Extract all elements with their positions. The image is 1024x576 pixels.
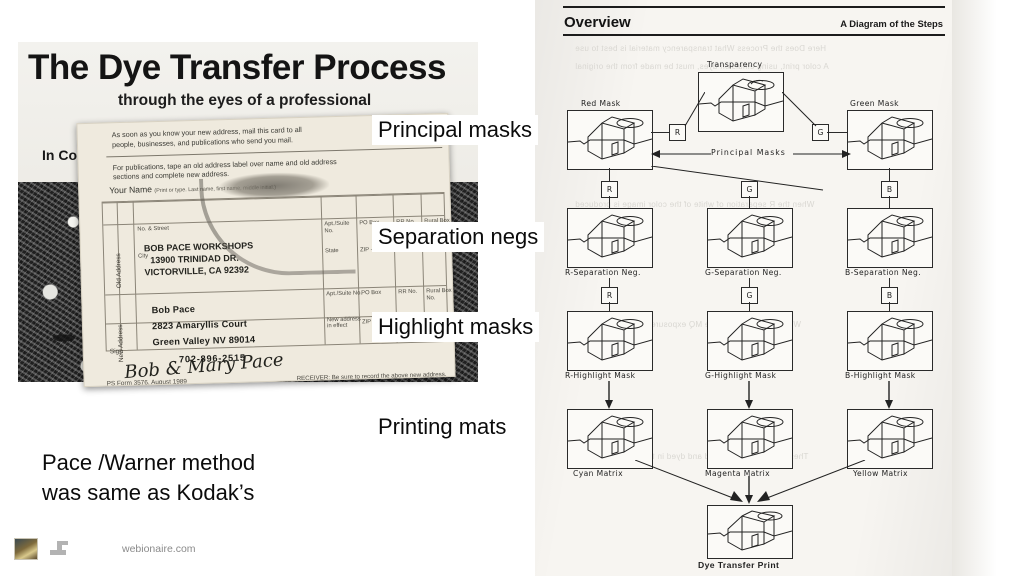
node-red-mask	[567, 110, 653, 170]
house-drawing-icon	[848, 312, 932, 370]
node-b-highlight-mask	[847, 311, 933, 371]
arrow-magenta-to-print	[745, 476, 754, 504]
callout-principal-masks: Principal masks	[372, 115, 538, 145]
col-header-rr-2: RR No.	[398, 289, 417, 296]
footer-thumbnail-icon	[14, 538, 38, 560]
col-header-pobox-2: PO Box	[361, 290, 381, 297]
book-title: The Dye Transfer Process	[28, 48, 468, 88]
diagram-header-title: Overview	[564, 14, 631, 31]
col-header-ruralbox-2: Rural Box No.	[426, 288, 455, 302]
house-drawing-icon	[699, 73, 783, 131]
house-drawing-icon	[848, 111, 932, 169]
sign-label: Sign	[110, 348, 123, 355]
old-address-line-3: VICTORVILLE, CA 92392	[144, 264, 249, 277]
connector-redmask-gsep	[651, 166, 829, 194]
arrow-to-yellow-matrix	[885, 381, 894, 409]
label-transparency: Transparency	[707, 60, 762, 69]
label-b-separation-neg: B-Separation Neg.	[845, 268, 921, 277]
footer-site-label: webionaire.com	[122, 543, 196, 555]
footer: webionaire.com	[14, 538, 196, 560]
node-r-highlight-mask	[567, 311, 653, 371]
node-transparency	[698, 72, 784, 132]
label-cyan-matrix: Cyan Matrix	[573, 469, 623, 478]
house-drawing-icon	[708, 506, 792, 558]
label-g-highlight-mask: G-Highlight Mask	[705, 371, 776, 380]
callout-printing-mats: Printing mats	[378, 414, 506, 440]
node-green-mask	[847, 110, 933, 170]
old-address-line-2: 13900 TRINIDAD DR.	[150, 253, 239, 265]
label-dye-transfer-print: Dye Transfer Print	[698, 560, 779, 570]
section-label: In Co	[42, 147, 77, 163]
connector-transparency-red	[683, 92, 705, 128]
arrow-to-magenta-matrix	[745, 381, 754, 409]
label-r-highlight-mask: R-Highlight Mask	[565, 371, 635, 380]
node-g-highlight-mask	[707, 311, 793, 371]
house-drawing-icon	[708, 209, 792, 267]
diagram-page: Here Does the Process What transparency …	[535, 0, 967, 576]
arrow-cyan-to-print	[635, 460, 745, 506]
effective-label: New address in effect	[327, 316, 361, 330]
connector-transparency-green	[782, 92, 818, 128]
diagram-header-subtitle: A Diagram of the Steps	[840, 18, 943, 29]
page-edge-fade	[952, 0, 1024, 576]
label-principal-masks: Principal Masks	[711, 148, 786, 157]
webionaire-logo-icon	[48, 539, 76, 559]
house-drawing-icon	[568, 111, 652, 169]
new-address-line-1: Bob Pace	[151, 304, 195, 315]
node-dye-transfer-print	[707, 505, 793, 559]
arrow-to-cyan-matrix	[605, 381, 614, 409]
bottom-note: Pace /Warner method was same as Kodak’s	[42, 448, 255, 507]
house-drawing-icon	[568, 209, 652, 267]
arrow-yellow-to-print	[757, 460, 867, 506]
label-b-highlight-mask: B-Highlight Mask	[845, 371, 916, 380]
old-address-row-label: Old Address	[115, 253, 123, 288]
col-header-street: No. & Street	[137, 226, 169, 234]
new-address-line-2: 2823 Amaryllis Court	[152, 319, 247, 332]
bottom-note-line-1: Pace /Warner method	[42, 448, 255, 478]
bottom-note-line-2: was same as Kodak’s	[42, 478, 255, 508]
node-g-separation-neg	[707, 208, 793, 268]
city-label: City	[138, 253, 148, 260]
label-r-separation-neg: R-Separation Neg.	[565, 268, 641, 277]
label-red-mask: Red Mask	[581, 99, 621, 108]
label-green-mask: Green Mask	[850, 99, 899, 108]
book-subtitle: through the eyes of a professional	[118, 92, 458, 110]
col-header-apt-2: Apt./Suite No.	[326, 290, 362, 298]
ps-form-number: PS Form 3576, August 1989	[107, 378, 187, 387]
house-drawing-icon	[848, 209, 932, 267]
house-drawing-icon	[708, 312, 792, 370]
house-drawing-icon	[568, 312, 652, 370]
callout-separation-negs: Separation negs	[372, 222, 544, 252]
node-r-separation-neg	[567, 208, 653, 268]
node-b-separation-neg	[847, 208, 933, 268]
label-g-separation-neg: G-Separation Neg.	[705, 268, 782, 277]
callout-highlight-masks: Highlight masks	[372, 312, 539, 342]
new-address-line-3: Green Valley NV 89014	[152, 334, 255, 347]
new-address-row-label: New Address	[117, 324, 125, 362]
